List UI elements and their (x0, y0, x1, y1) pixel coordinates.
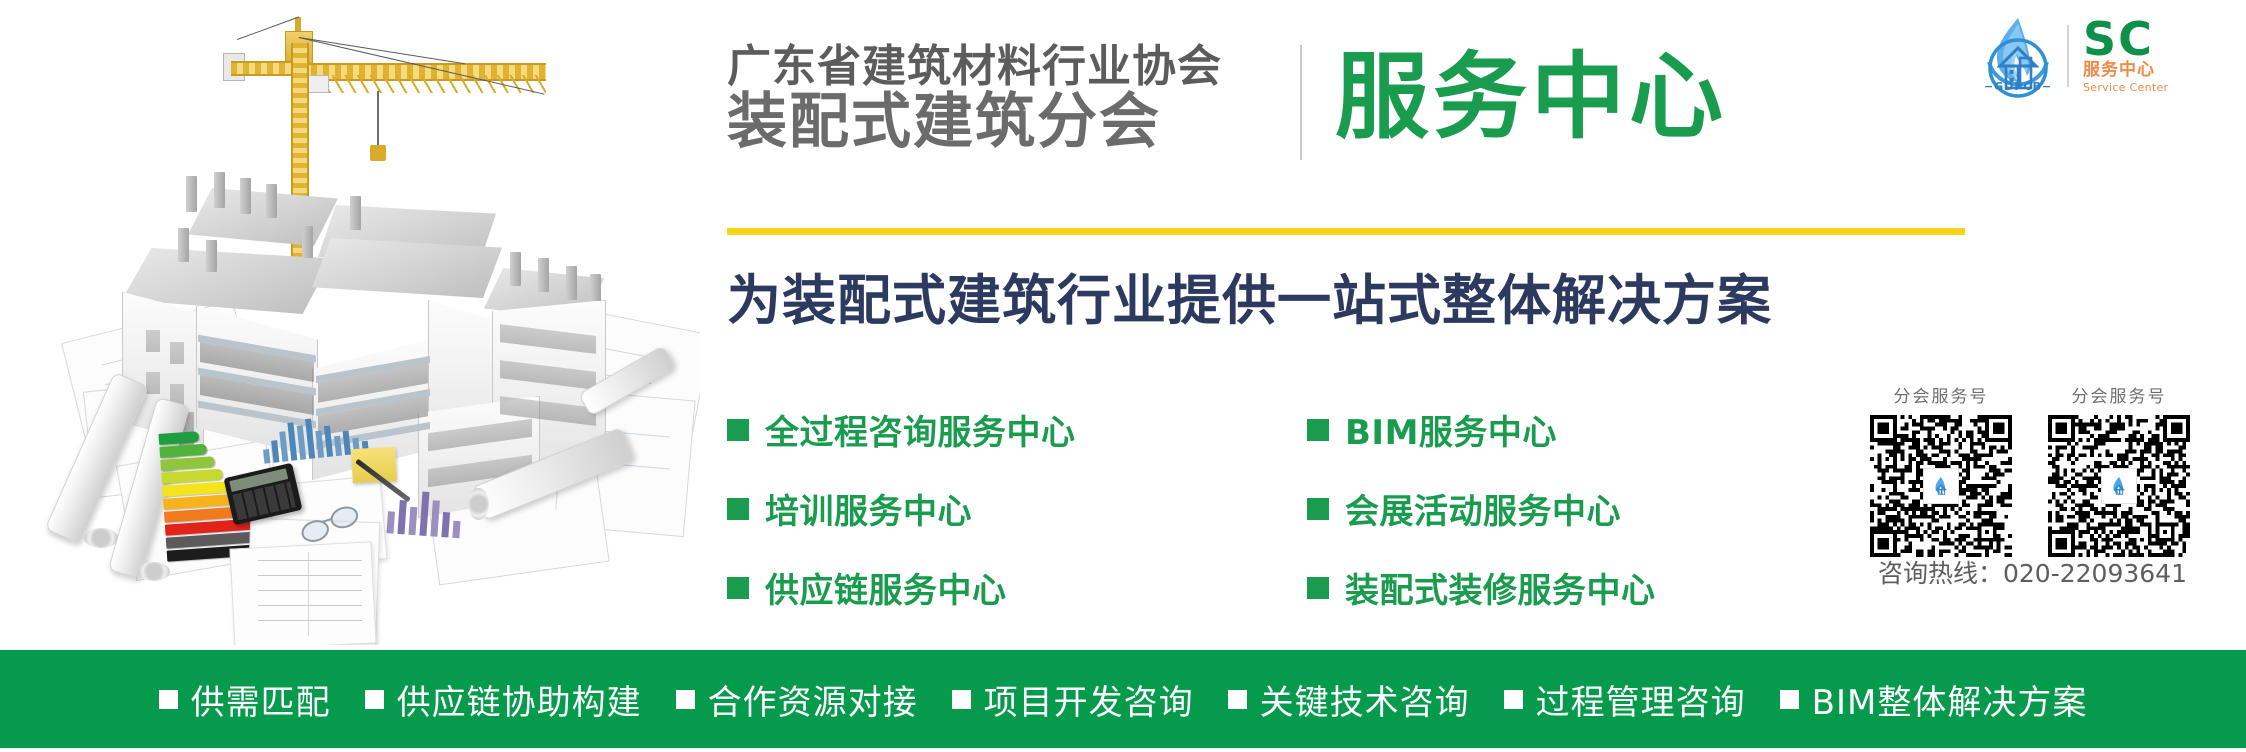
construction-site-illustration (0, 0, 700, 645)
bullet-square-icon (1504, 690, 1523, 709)
bar (305, 419, 315, 459)
rebar-column (510, 252, 521, 286)
form-text-line (258, 605, 362, 606)
bullet-square-icon (727, 419, 749, 441)
service-row: 供应链服务中心 装配式装修服务中心 (727, 563, 1777, 612)
bar (386, 511, 395, 533)
sc-wordmark: SC 服务中心 Service Center (2083, 18, 2168, 95)
bar (419, 492, 429, 536)
sc-chinese-label: 服务中心 (2083, 60, 2168, 81)
rebar-column (538, 258, 549, 292)
association-name: 广东省建筑材料行业协会 装配式建筑分会 (727, 44, 1287, 154)
qr-code-label: 分会服务号 (2048, 382, 2190, 407)
rebar-column (266, 184, 277, 218)
bar (430, 500, 439, 536)
form-text-line (258, 560, 362, 561)
service-item-label: 供应链服务中心 (765, 563, 1007, 612)
bullet-square-icon (727, 498, 749, 520)
gdpcb-mark: −GDPCB− (1975, 80, 2061, 93)
rebar-column (186, 176, 197, 212)
bar (452, 521, 460, 538)
window-opening (170, 342, 184, 364)
energy-bar-A (158, 431, 199, 445)
logo-divider (2067, 25, 2069, 87)
bottom-bar-label: 供需匹配 (191, 675, 331, 724)
window-opening (146, 330, 160, 352)
rebar-column (566, 266, 577, 300)
bottom-bar-label: 供应链协助构建 (397, 675, 642, 724)
rebar-column (302, 226, 313, 258)
roof-slab (312, 238, 502, 298)
qr-code-label: 分会服务号 (1870, 382, 2012, 407)
rolled-plan-end (84, 528, 118, 548)
bullet-square-icon (1228, 690, 1247, 709)
rebar-column (350, 196, 361, 230)
bottom-bar-label: 关键技术咨询 (1260, 675, 1470, 724)
crane-jib-truss (299, 75, 546, 93)
service-item-right[interactable]: 会展活动服务中心 (1307, 484, 1621, 533)
crane-hook-line (377, 91, 379, 147)
service-item-left[interactable]: 培训服务中心 (727, 484, 1307, 533)
qr-code-image[interactable] (1870, 415, 2012, 557)
bullet-square-icon (676, 690, 695, 709)
service-item-left[interactable]: 供应链服务中心 (727, 563, 1307, 612)
bottom-bar-item[interactable]: 合作资源对接 (676, 675, 918, 724)
bar (397, 500, 406, 534)
sc-english-label: Service Center (2083, 81, 2168, 94)
bullet-square-icon (1307, 419, 1329, 441)
crane-hook (370, 145, 386, 161)
bullet-square-icon (727, 577, 749, 599)
bar (315, 431, 324, 458)
energy-bar-B (159, 444, 207, 458)
form-divider (308, 552, 309, 636)
service-item-right[interactable]: 装配式装修服务中心 (1307, 563, 1656, 612)
yellow-divider (727, 228, 1965, 235)
bottom-bar-item[interactable]: 供需匹配 (159, 675, 331, 724)
form-text-line (258, 590, 362, 591)
service-row: 培训服务中心 会展活动服务中心 (727, 484, 1777, 533)
bullet-square-icon (159, 690, 178, 709)
page-subtitle: 为装配式建筑行业提供一站式整体解决方案 (727, 256, 1772, 335)
bar (324, 426, 333, 457)
rolled-plan-end (138, 562, 170, 581)
service-center-list: 全过程咨询服务中心 BIM服务中心 培训服务中心 会展活动服务中心 供应链服务中… (727, 405, 1777, 642)
service-item-label: 全过程咨询服务中心 (765, 405, 1076, 454)
crane-cable (299, 37, 465, 64)
bar (271, 440, 279, 463)
bar (334, 436, 342, 457)
title-vertical-divider (1300, 45, 1302, 160)
bullet-square-icon (1780, 690, 1799, 709)
bottom-bar-item[interactable]: 供应链协助构建 (365, 675, 642, 724)
bullet-square-icon (365, 690, 384, 709)
window-opening (146, 372, 160, 394)
bar (263, 449, 270, 464)
bottom-service-bar: 供需匹配 供应链协助构建 合作资源对接 项目开发咨询 关键技术咨询 过程管理咨询 (0, 650, 2246, 748)
bottom-bar-label: 合作资源对接 (708, 675, 918, 724)
hotline-text: 咨询热线：020-22093641 (1878, 554, 2187, 590)
qr-code-image[interactable] (2048, 415, 2190, 557)
service-center-title: 服务中心 (1335, 46, 1727, 149)
service-row: 全过程咨询服务中心 BIM服务中心 (727, 405, 1777, 454)
mortgage-application-form (229, 541, 376, 645)
bar (343, 431, 351, 455)
service-item-label: BIM服务中心 (1345, 405, 1557, 454)
qr-center-logo-icon (2101, 468, 2137, 504)
sc-abbreviation: SC (2083, 18, 2168, 60)
rolled-plan-end (468, 488, 489, 520)
service-item-label: 装配式装修服务中心 (1345, 563, 1656, 612)
rebar-column (240, 178, 251, 214)
service-item-right[interactable]: BIM服务中心 (1307, 405, 1557, 454)
bullet-square-icon (952, 690, 971, 709)
bullet-square-icon (1307, 498, 1329, 520)
bottom-bar-item[interactable]: 过程管理咨询 (1504, 675, 1746, 724)
bottom-bar-label: BIM整体解决方案 (1812, 675, 2088, 724)
bar (297, 425, 307, 459)
rebar-column (178, 228, 189, 262)
service-item-left[interactable]: 全过程咨询服务中心 (727, 405, 1307, 454)
rebar-column (206, 240, 217, 272)
qr-code-block: 分会服务号 (2048, 382, 2190, 557)
bottom-bar-item[interactable]: 项目开发咨询 (952, 675, 1194, 724)
bottom-bar-item[interactable]: 关键技术咨询 (1228, 675, 1470, 724)
association-name-line1: 广东省建筑材料行业协会 (727, 44, 1287, 91)
bar (287, 422, 297, 460)
qr-center-logo-icon (1923, 468, 1959, 504)
bar (441, 512, 450, 537)
rebar-column (214, 172, 225, 208)
bottom-bar-item[interactable]: BIM整体解决方案 (1780, 675, 2088, 724)
bottom-bar-items: 供需匹配 供应链协助构建 合作资源对接 项目开发咨询 关键技术咨询 过程管理咨询 (159, 675, 2088, 724)
association-name-line2: 装配式建筑分会 (727, 91, 1287, 154)
bottom-bar-label: 项目开发咨询 (984, 675, 1194, 724)
qr-code-block: 分会服务号 (1870, 382, 2012, 557)
bar (408, 507, 417, 535)
service-item-label: 会展活动服务中心 (1345, 484, 1621, 533)
roof-slab (188, 188, 338, 246)
form-text-line (258, 575, 362, 576)
qr-code-section: 分会服务号 分会服务号 (1870, 382, 2230, 557)
promotional-banner: 广东省建筑材料行业协会 装配式建筑分会 服务中心 为装配式建筑行业提供一站式整体… (0, 0, 2246, 752)
bar (279, 431, 288, 461)
bottom-bar-label: 过程管理咨询 (1536, 675, 1746, 724)
service-item-label: 培训服务中心 (765, 484, 972, 533)
bullet-square-icon (1307, 577, 1329, 599)
form-text-line (258, 620, 362, 621)
